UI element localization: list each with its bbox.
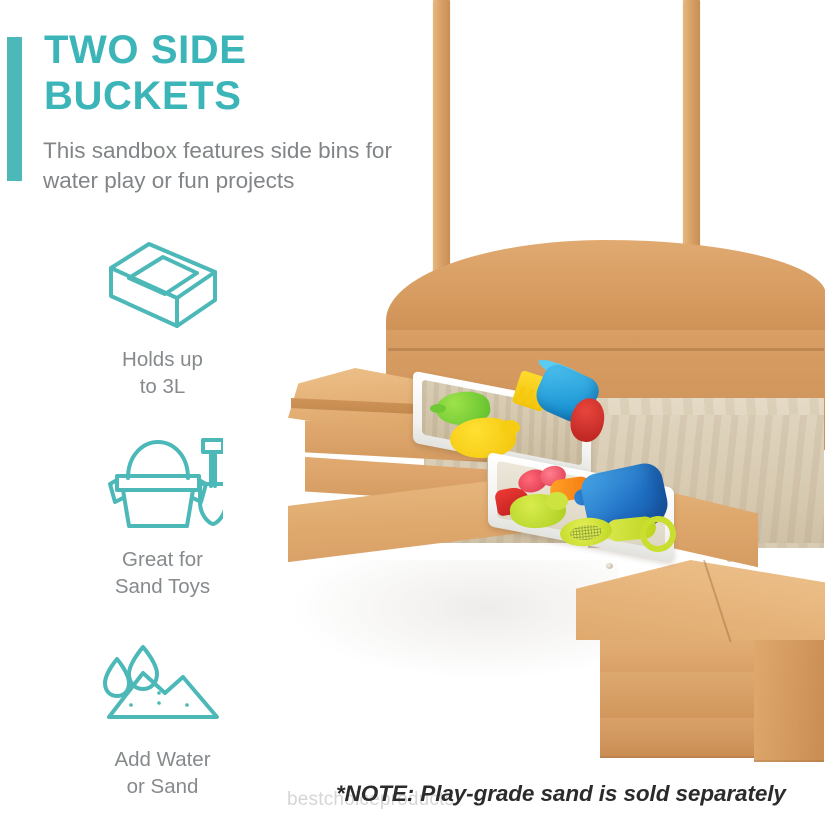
- feature-label: Holds up to 3L: [40, 346, 285, 401]
- screw-head-icon: [606, 563, 613, 569]
- yellow-turtle-head: [500, 420, 520, 435]
- feature-add-water-or-sand: Add Water or Sand: [40, 632, 285, 801]
- disclaimer-note: *NOTE: Play-grade sand is sold separatel…: [336, 781, 786, 807]
- green-mold-knob: [546, 492, 568, 510]
- base-plank-3: [600, 718, 760, 758]
- open-bin-box-icon: [40, 232, 285, 338]
- product-photo-sandbox: [288, 0, 825, 790]
- water-drops-over-sand-mound-icon: [40, 632, 285, 738]
- feature-label: Great for Sand Toys: [40, 546, 285, 601]
- floor-shadow: [288, 560, 618, 680]
- infographic-page: TWO SIDE BUCKETS This sandbox features s…: [0, 0, 825, 825]
- feature-holds-up-to-3l: Holds up to 3L: [40, 232, 285, 401]
- accent-bar: [7, 37, 22, 181]
- back-rail-seam: [388, 348, 824, 351]
- base-plank-2: [600, 672, 760, 724]
- bucket-and-shovel-icon: [40, 432, 285, 538]
- green-crab-mold-leg: [430, 404, 446, 413]
- feature-great-for-sand-toys: Great for Sand Toys: [40, 432, 285, 601]
- feature-label: Add Water or Sand: [40, 746, 285, 801]
